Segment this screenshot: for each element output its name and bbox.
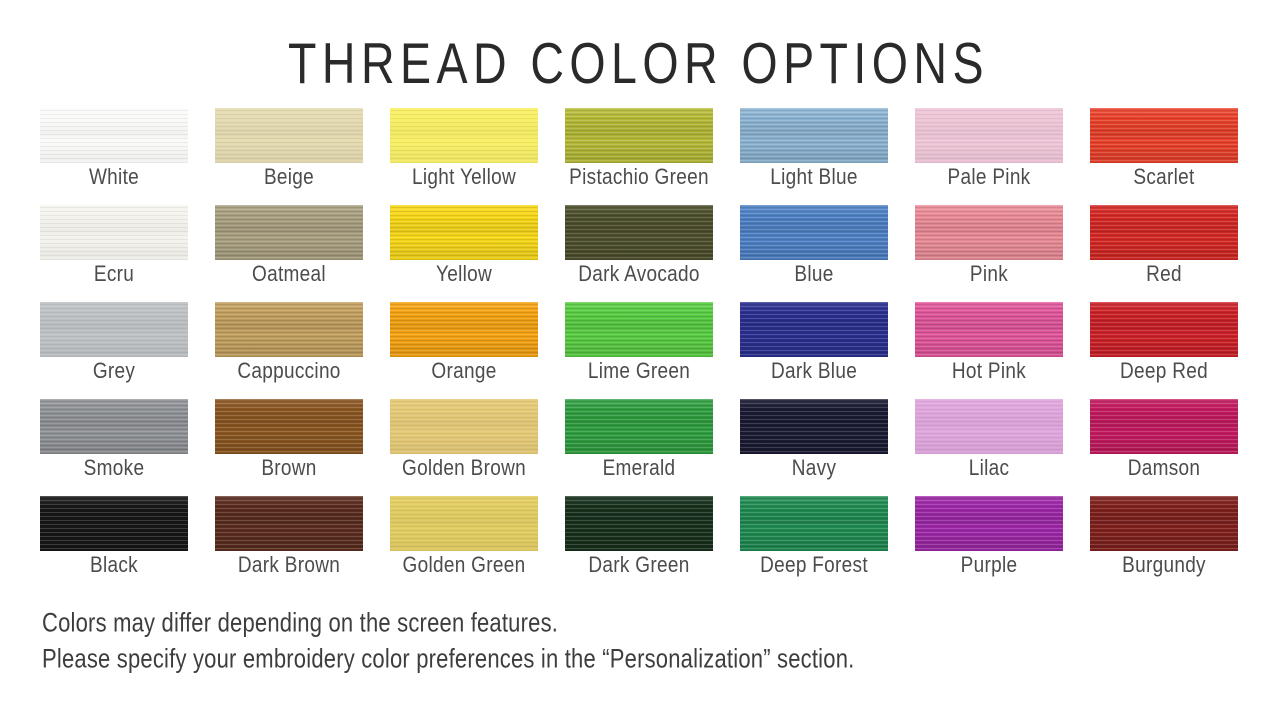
thread-color-cell[interactable]: Grey <box>40 302 188 399</box>
thread-color-cell[interactable]: Ecru <box>40 205 188 302</box>
thread-color-label: Beige <box>215 165 363 191</box>
thread-swatch[interactable] <box>565 205 713 260</box>
thread-swatch[interactable] <box>390 205 538 260</box>
thread-swatch[interactable] <box>565 108 713 163</box>
thread-color-label: Dark Green <box>565 553 713 579</box>
thread-color-cell[interactable]: Dark Blue <box>740 302 888 399</box>
thread-swatch[interactable] <box>390 496 538 551</box>
thread-color-label: Golden Brown <box>390 456 538 482</box>
thread-color-label: Oatmeal <box>215 262 363 288</box>
thread-swatch[interactable] <box>915 205 1063 260</box>
thread-color-label: Purple <box>915 553 1063 579</box>
thread-color-cell[interactable]: Deep Forest <box>740 496 888 593</box>
thread-color-label: Dark Avocado <box>565 262 713 288</box>
thread-color-label: White <box>40 165 188 191</box>
thread-swatch[interactable] <box>215 302 363 357</box>
thread-swatch[interactable] <box>740 108 888 163</box>
thread-swatch[interactable] <box>915 496 1063 551</box>
thread-color-cell[interactable]: Golden Green <box>390 496 538 593</box>
thread-color-cell[interactable]: Cappuccino <box>215 302 363 399</box>
thread-color-cell[interactable]: Orange <box>390 302 538 399</box>
thread-color-cell[interactable]: Pink <box>915 205 1063 302</box>
thread-swatch[interactable] <box>1090 302 1238 357</box>
thread-swatch[interactable] <box>915 108 1063 163</box>
thread-color-cell[interactable]: Yellow <box>390 205 538 302</box>
thread-color-label: Orange <box>390 359 538 385</box>
thread-color-cell[interactable]: Deep Red <box>1090 302 1238 399</box>
thread-swatch[interactable] <box>915 399 1063 454</box>
thread-color-label: Lime Green <box>565 359 713 385</box>
thread-color-label: Pale Pink <box>915 165 1063 191</box>
thread-swatch[interactable] <box>565 496 713 551</box>
thread-color-cell[interactable]: Light Yellow <box>390 108 538 205</box>
thread-color-cell[interactable]: Navy <box>740 399 888 496</box>
thread-swatch[interactable] <box>390 399 538 454</box>
thread-swatch[interactable] <box>565 302 713 357</box>
thread-color-label: Scarlet <box>1090 165 1238 191</box>
thread-color-label: Deep Red <box>1090 359 1238 385</box>
thread-color-cell[interactable]: Burgundy <box>1090 496 1238 593</box>
page-title: THREAD COLOR OPTIONS <box>6 0 1270 92</box>
thread-color-cell[interactable]: White <box>40 108 188 205</box>
thread-color-label: Golden Green <box>390 553 538 579</box>
thread-color-label: Red <box>1090 262 1238 288</box>
thread-color-cell[interactable]: Purple <box>915 496 1063 593</box>
thread-swatch[interactable] <box>390 108 538 163</box>
thread-color-label: Brown <box>215 456 363 482</box>
thread-swatch[interactable] <box>40 108 188 163</box>
thread-color-cell[interactable]: Brown <box>215 399 363 496</box>
thread-color-cell[interactable]: Damson <box>1090 399 1238 496</box>
thread-color-label: Light Yellow <box>390 165 538 191</box>
thread-color-label: Grey <box>40 359 188 385</box>
thread-swatch[interactable] <box>40 205 188 260</box>
thread-color-label: Deep Forest <box>740 553 888 579</box>
thread-color-cell[interactable]: Dark Avocado <box>565 205 713 302</box>
footer-line-1: Colors may differ depending on the scree… <box>42 610 854 636</box>
thread-color-label: Black <box>40 553 188 579</box>
thread-swatch[interactable] <box>390 302 538 357</box>
thread-color-label: Navy <box>740 456 888 482</box>
thread-swatch[interactable] <box>1090 496 1238 551</box>
thread-color-cell[interactable]: Golden Brown <box>390 399 538 496</box>
thread-color-label: Dark Blue <box>740 359 888 385</box>
thread-color-cell[interactable]: Black <box>40 496 188 593</box>
thread-swatch[interactable] <box>1090 108 1238 163</box>
thread-color-label: Pink <box>915 262 1063 288</box>
thread-color-cell[interactable]: Dark Brown <box>215 496 363 593</box>
thread-color-label: Hot Pink <box>915 359 1063 385</box>
thread-color-cell[interactable]: Pistachio Green <box>565 108 713 205</box>
thread-swatch[interactable] <box>740 399 888 454</box>
footer-note: Colors may differ depending on the scree… <box>42 610 854 682</box>
thread-color-cell[interactable]: Emerald <box>565 399 713 496</box>
thread-color-grid: WhiteBeigeLight YellowPistachio GreenLig… <box>40 108 1240 593</box>
thread-color-label: Light Blue <box>740 165 888 191</box>
thread-color-cell[interactable]: Dark Green <box>565 496 713 593</box>
thread-swatch[interactable] <box>565 399 713 454</box>
thread-swatch[interactable] <box>1090 399 1238 454</box>
thread-swatch[interactable] <box>215 399 363 454</box>
thread-swatch[interactable] <box>40 399 188 454</box>
thread-swatch[interactable] <box>740 496 888 551</box>
thread-color-cell[interactable]: Hot Pink <box>915 302 1063 399</box>
thread-color-cell[interactable]: Blue <box>740 205 888 302</box>
thread-color-cell[interactable]: Red <box>1090 205 1238 302</box>
thread-color-cell[interactable]: Lime Green <box>565 302 713 399</box>
thread-swatch[interactable] <box>40 302 188 357</box>
thread-color-cell[interactable]: Beige <box>215 108 363 205</box>
thread-color-label: Burgundy <box>1090 553 1238 579</box>
thread-swatch[interactable] <box>215 496 363 551</box>
thread-color-label: Yellow <box>390 262 538 288</box>
thread-color-cell[interactable]: Smoke <box>40 399 188 496</box>
thread-swatch[interactable] <box>1090 205 1238 260</box>
thread-color-label: Damson <box>1090 456 1238 482</box>
thread-color-label: Dark Brown <box>215 553 363 579</box>
thread-color-label: Ecru <box>40 262 188 288</box>
thread-color-cell[interactable]: Lilac <box>915 399 1063 496</box>
thread-color-cell[interactable]: Light Blue <box>740 108 888 205</box>
thread-swatch[interactable] <box>915 302 1063 357</box>
thread-color-label: Smoke <box>40 456 188 482</box>
thread-color-label: Cappuccino <box>215 359 363 385</box>
thread-color-label: Pistachio Green <box>565 165 713 191</box>
thread-swatch[interactable] <box>215 205 363 260</box>
thread-color-cell[interactable]: Oatmeal <box>215 205 363 302</box>
thread-color-label: Lilac <box>915 456 1063 482</box>
thread-swatch[interactable] <box>215 108 363 163</box>
thread-swatch[interactable] <box>740 302 888 357</box>
thread-color-label: Emerald <box>565 456 713 482</box>
thread-color-cell[interactable]: Pale Pink <box>915 108 1063 205</box>
thread-swatch[interactable] <box>740 205 888 260</box>
thread-color-label: Blue <box>740 262 888 288</box>
footer-line-2: Please specify your embroidery color pre… <box>42 646 854 672</box>
thread-color-cell[interactable]: Scarlet <box>1090 108 1238 205</box>
thread-swatch[interactable] <box>40 496 188 551</box>
